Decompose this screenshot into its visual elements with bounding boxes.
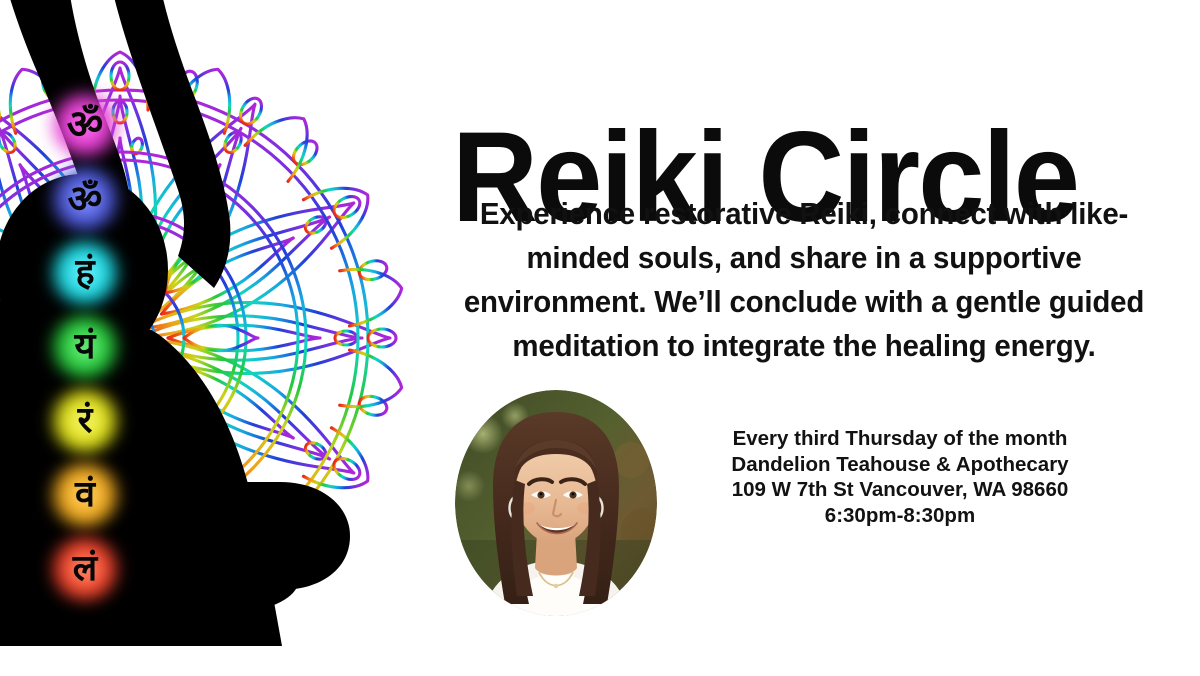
event-time: 6:30pm-8:30pm	[700, 503, 1100, 529]
chakra-third-eye-symbol: ॐ	[68, 180, 103, 218]
chakra-sacral: वं	[38, 458, 132, 532]
chakra-crown: ॐ	[38, 88, 132, 162]
chakra-mandala-artwork: ॐ ॐ हं यं रं वं	[0, 0, 440, 676]
chakra-crown-symbol: ॐ	[67, 105, 103, 145]
portrait-illustration	[455, 390, 657, 616]
chakra-heart: यं	[38, 310, 132, 384]
description-line-1: Experience restorative Reiki, connect wi…	[432, 192, 1177, 236]
description-line-4: meditation to integrate the healing ener…	[432, 324, 1177, 368]
event-frequency: Every third Thursday of the month	[700, 426, 1100, 452]
chakra-solar-plexus-symbol: रं	[78, 403, 93, 439]
chakra-throat-symbol: हं	[75, 255, 94, 291]
event-venue: Dandelion Teahouse & Apothecary	[700, 452, 1100, 478]
chakra-heart-symbol: यं	[75, 329, 96, 365]
chakra-third-eye: ॐ	[38, 162, 132, 236]
reiki-circle-poster: ॐ ॐ हं यं रं वं	[0, 0, 1200, 676]
chakra-symbol-column: ॐ ॐ हं यं रं वं	[38, 88, 138, 598]
host-portrait-photo	[455, 390, 657, 616]
chakra-root-symbol: लं	[73, 551, 97, 587]
description-line-3: environment. We’ll conclude with a gentl…	[432, 280, 1177, 324]
chakra-root: लं	[38, 532, 132, 606]
chakra-throat: हं	[38, 236, 132, 310]
event-address: 109 W 7th St Vancouver, WA 98660	[700, 477, 1100, 503]
chakra-solar-plexus: रं	[38, 384, 132, 458]
event-description: Experience restorative Reiki, connect wi…	[432, 192, 1177, 368]
chakra-sacral-symbol: वं	[75, 477, 95, 513]
description-line-2: minded souls, and share in a supportive	[432, 236, 1177, 280]
event-details: Every third Thursday of the month Dandel…	[700, 426, 1100, 528]
